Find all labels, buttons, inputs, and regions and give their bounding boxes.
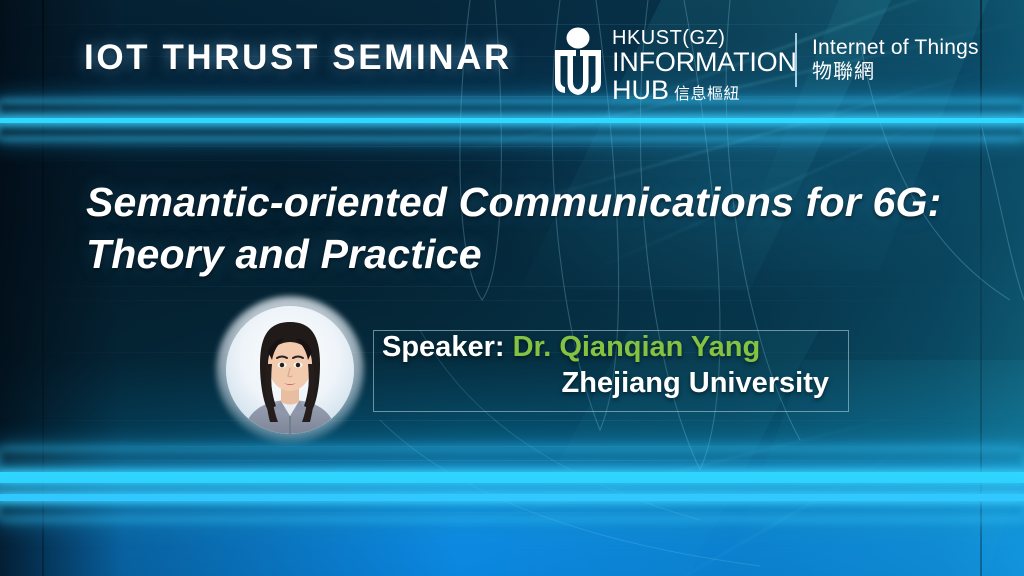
logo-line-information: INFORMATION <box>612 49 797 76</box>
neon-beam-top <box>0 118 1024 123</box>
neon-beam-bottom-primary <box>0 472 1024 483</box>
logo-wordmark: HKUST(GZ) INFORMATION HUB 信息樞紐 <box>612 26 797 104</box>
background-streak <box>0 24 1024 25</box>
iot-brand-block: Internet of Things 物聯網 <box>812 36 979 84</box>
background-streak <box>0 146 1024 147</box>
talk-title: Semantic-oriented Communications for 6G:… <box>86 176 946 281</box>
seminar-poster: IOT THRUST SEMINAR HKUST(GZ) INFORMATION… <box>0 0 1024 576</box>
speaker-name: Dr. Qianqian Yang <box>513 331 761 363</box>
background-streak <box>0 420 1024 421</box>
background-streak <box>0 300 1024 301</box>
logo-vertical-divider <box>795 33 797 87</box>
seminar-series-title: IOT THRUST SEMINAR <box>84 38 512 78</box>
neon-beam-glow-bottom <box>0 452 1024 516</box>
speaker-affiliation: Zhejiang University <box>373 367 829 400</box>
background-streak <box>0 286 1024 287</box>
speaker-photo <box>226 306 354 434</box>
iot-brand-english: Internet of Things <box>812 36 979 61</box>
speaker-label: Speaker: <box>382 331 513 363</box>
background-streak <box>0 446 1024 447</box>
background-streak <box>0 96 1024 97</box>
logo-line-hub: HUB 信息樞紐 <box>612 77 797 104</box>
portrait-illustration <box>226 306 354 434</box>
portrait-frame <box>226 306 354 434</box>
neon-beam-bottom-secondary <box>0 494 1024 501</box>
logo-hub-text: HUB <box>612 77 669 104</box>
hkust-information-hub-logo: HKUST(GZ) INFORMATION HUB 信息樞紐 <box>552 26 797 104</box>
hkust-emblem-icon <box>552 26 604 98</box>
speaker-name-line: Speaker: Dr. Qianqian Yang <box>382 331 760 364</box>
logo-hub-chinese: 信息樞紐 <box>674 87 740 103</box>
background-streak <box>0 160 1024 161</box>
iot-brand-chinese: 物聯網 <box>812 61 979 85</box>
logo-line-hkust: HKUST(GZ) <box>612 28 797 48</box>
